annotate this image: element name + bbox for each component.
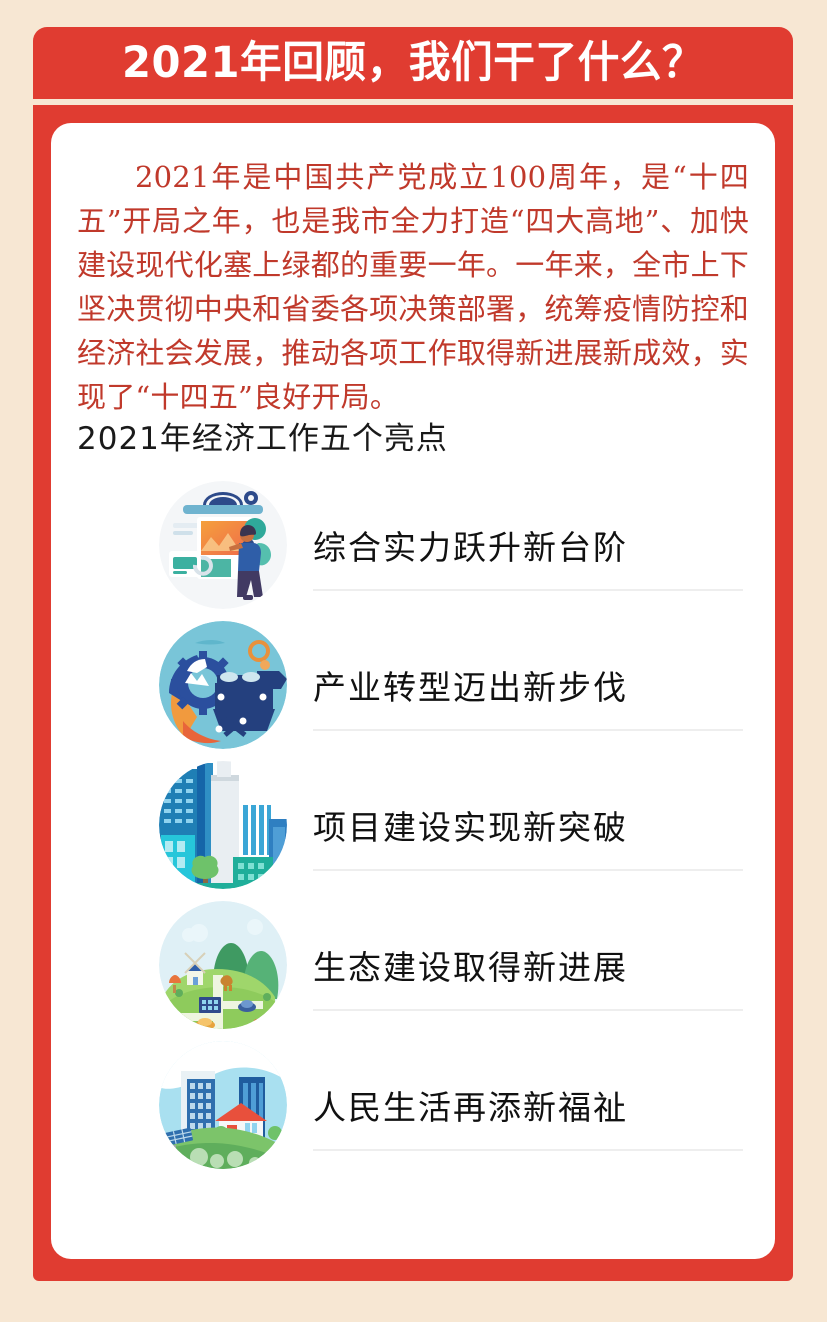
list-item-divider xyxy=(313,869,743,871)
industrial-machinery-icon xyxy=(159,621,287,749)
section-heading: 2021年经济工作五个亮点 xyxy=(77,413,448,458)
red-body-frame: 2021年是中国共产党成立100周年，是“十四五”开局之年，也是我市全力打造“四… xyxy=(33,105,793,1281)
highlight-list: 综合实力跃升新台阶 xyxy=(51,475,775,1175)
list-item-label: 人民生活再添新福祉 xyxy=(313,1081,628,1129)
page-title: 2021年回顾，我们干了什么？ xyxy=(122,42,704,85)
list-item-label: 生态建设取得新进展 xyxy=(313,941,628,989)
list-item-divider xyxy=(313,589,743,591)
list-item-content: 综合实力跃升新台阶 xyxy=(313,481,775,609)
list-item-label: 项目建设实现新突破 xyxy=(313,801,628,849)
list-item-content: 项目建设实现新突破 xyxy=(313,761,775,889)
list-item-label: 综合实力跃升新台阶 xyxy=(313,521,628,569)
list-item[interactable]: 综合实力跃升新台阶 xyxy=(51,475,775,615)
dashboard-presentation-icon xyxy=(159,481,287,609)
list-item-content: 产业转型迈出新步伐 xyxy=(313,621,775,749)
list-item[interactable]: 项目建设实现新突破 xyxy=(51,755,775,895)
list-item[interactable]: 生态建设取得新进展 xyxy=(51,895,775,1035)
white-content-card: 2021年是中国共产党成立100周年，是“十四五”开局之年，也是我市全力打造“四… xyxy=(51,123,775,1259)
list-item-divider xyxy=(313,1149,743,1151)
header-banner: 2021年回顾，我们干了什么？ xyxy=(33,27,793,99)
list-item[interactable]: 产业转型迈出新步伐 xyxy=(51,615,775,755)
list-item-label: 产业转型迈出新步伐 xyxy=(313,661,628,709)
list-item-content: 人民生活再添新福祉 xyxy=(313,1041,775,1169)
intro-paragraph: 2021年是中国共产党成立100周年，是“十四五”开局之年，也是我市全力打造“四… xyxy=(77,155,749,419)
list-item-content: 生态建设取得新进展 xyxy=(313,901,775,1029)
list-item-divider xyxy=(313,1009,743,1011)
residential-community-icon xyxy=(159,1041,287,1169)
green-landscape-icon xyxy=(159,901,287,1029)
list-item[interactable]: 人民生活再添新福祉 xyxy=(51,1035,775,1175)
city-skyline-icon xyxy=(159,761,287,889)
list-item-divider xyxy=(313,729,743,731)
poster-page: 2021年回顾，我们干了什么？ 2021年是中国共产党成立100周年，是“十四五… xyxy=(33,27,793,1281)
